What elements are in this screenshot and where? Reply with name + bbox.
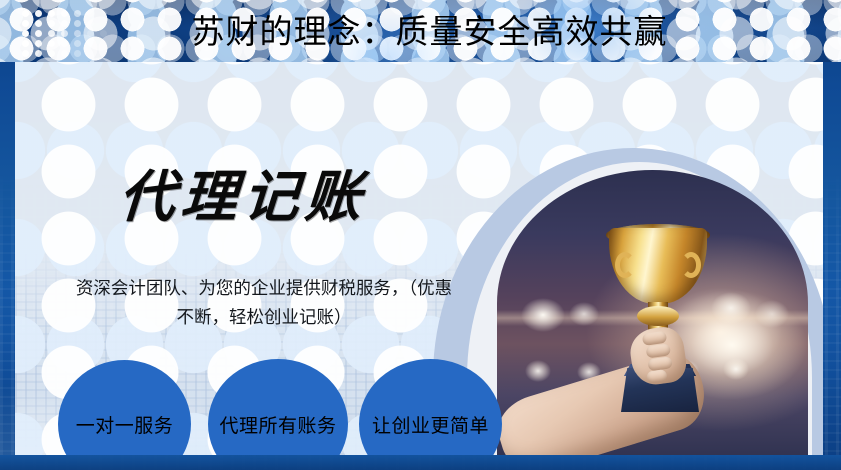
bokeh-light xyxy=(723,358,749,380)
bokeh-light xyxy=(755,300,789,328)
cup-handle-right xyxy=(681,252,701,278)
content-panel: 代理记账 资深会计团队、为您的企业提供财税服务，（优惠不断，轻松创业记账） 一对… xyxy=(15,62,823,455)
slide-canvas: 苏财的理念：质量安全高效共赢 xyxy=(0,0,841,470)
cup-knot xyxy=(637,306,679,326)
header-band: 苏财的理念：质量安全高效共赢 xyxy=(0,0,841,62)
feature-circle-1-label: 一对一服务 xyxy=(76,411,174,438)
bottom-blue-strip xyxy=(0,455,841,470)
trophy-cup xyxy=(593,228,723,455)
feature-circle-3-label: 让创业更简单 xyxy=(372,411,489,438)
bokeh-light xyxy=(521,298,565,332)
main-heading: 代理记账 xyxy=(117,170,369,226)
subtitle-text: 资深会计团队、为您的企业提供财税服务，（优惠不断，轻松创业记账） xyxy=(73,274,455,332)
bokeh-light xyxy=(525,360,551,382)
feature-circle-2-label: 代理所有账务 xyxy=(219,411,336,438)
page-title: 苏财的理念：质量安全高效共赢 xyxy=(0,0,841,62)
trophy-photo xyxy=(497,170,808,455)
cup-handle-left xyxy=(615,252,635,278)
finger xyxy=(646,369,667,384)
